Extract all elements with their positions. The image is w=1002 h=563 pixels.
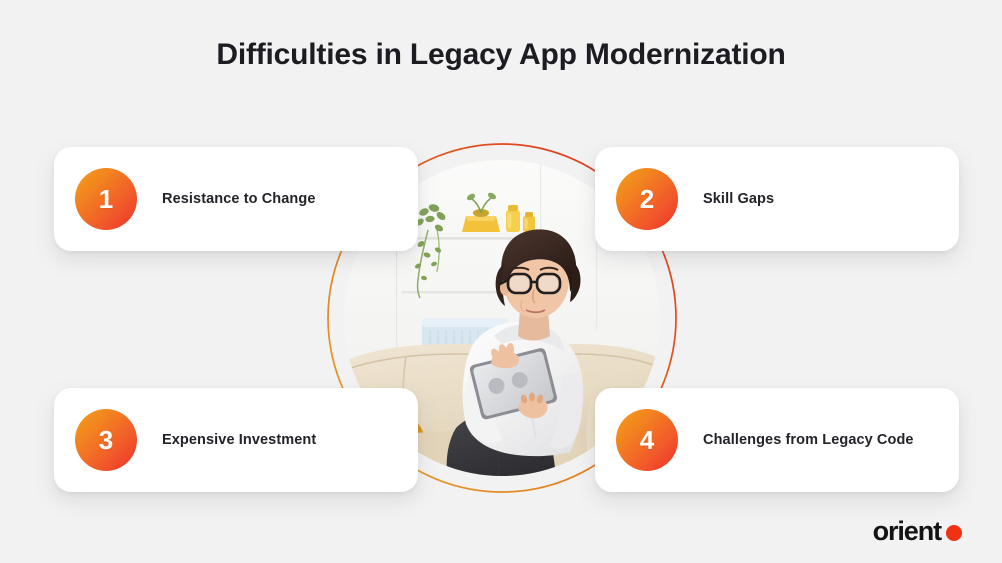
card-challenges-from-legacy-code[interactable]: 4 Challenges from Legacy Code — [595, 388, 959, 492]
card-label: Challenges from Legacy Code — [703, 432, 914, 448]
card-label: Skill Gaps — [703, 191, 774, 207]
page-title: Difficulties in Legacy App Modernization — [0, 38, 1002, 72]
logo-wordmark: orient — [873, 518, 941, 545]
card-skill-gaps[interactable]: 2 Skill Gaps — [595, 147, 959, 251]
logo-dot-icon — [946, 525, 962, 541]
card-label: Expensive Investment — [162, 432, 316, 448]
card-number-badge: 1 — [75, 168, 137, 230]
orient-logo[interactable]: orient — [873, 518, 962, 545]
slide-canvas: Difficulties in Legacy App Modernization — [0, 0, 1002, 563]
card-number-badge: 3 — [75, 409, 137, 471]
card-number-badge: 2 — [616, 168, 678, 230]
card-number-badge: 4 — [616, 409, 678, 471]
card-label: Resistance to Change — [162, 191, 316, 207]
card-resistance-to-change[interactable]: 1 Resistance to Change — [54, 147, 418, 251]
card-expensive-investment[interactable]: 3 Expensive Investment — [54, 388, 418, 492]
